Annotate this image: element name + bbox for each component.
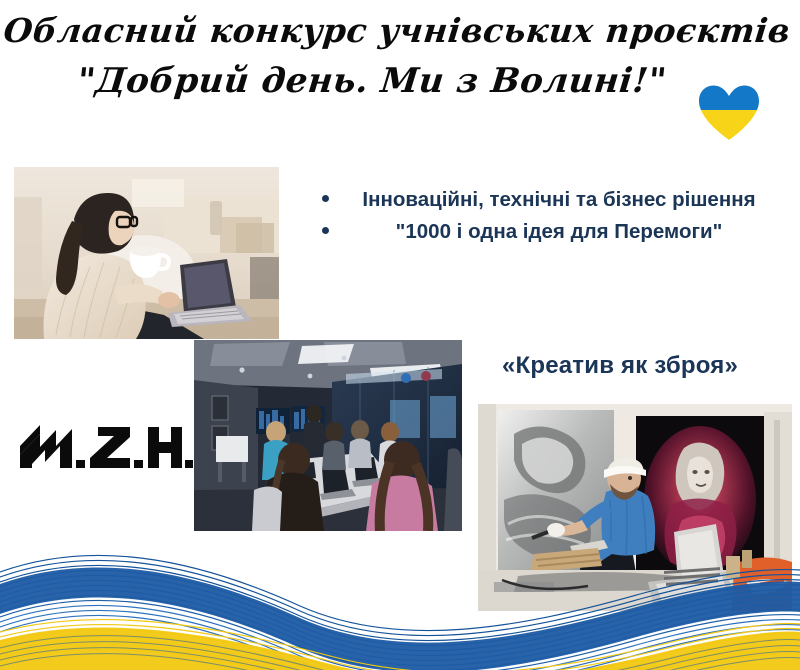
photo-artist-painting: [478, 404, 792, 611]
list-item: "1000 і одна ідея для Перемоги": [300, 218, 792, 246]
photo-office-meeting: [194, 340, 462, 531]
poster-title: Обласний конкурс учнівських проєктів "До…: [0, 14, 800, 99]
tagline-text: «Креатив як зброя»: [455, 352, 785, 380]
title-line-1: Обласний конкурс учнівських проєктів: [0, 14, 800, 49]
bullet-list: Інноваційні, технічні та бізнес рішення …: [300, 186, 792, 250]
bullet-dot-icon: [322, 195, 329, 202]
bullet-dot-icon: [322, 227, 329, 234]
poster-canvas: Обласний конкурс учнівських проєктів "До…: [0, 0, 800, 670]
ukraine-flag-heart-icon: [698, 84, 760, 142]
title-line-2: "Добрий день. Ми з Волині!": [0, 63, 800, 99]
man-logo: [18, 416, 193, 474]
list-item: Інноваційні, технічні та бізнес рішення: [300, 186, 792, 214]
bullet-item-text: Інноваційні, технічні та бізнес рішення: [300, 186, 792, 214]
bullet-item-text: "1000 і одна ідея для Перемоги": [300, 218, 792, 246]
photo-woman-laptop: [14, 167, 279, 339]
